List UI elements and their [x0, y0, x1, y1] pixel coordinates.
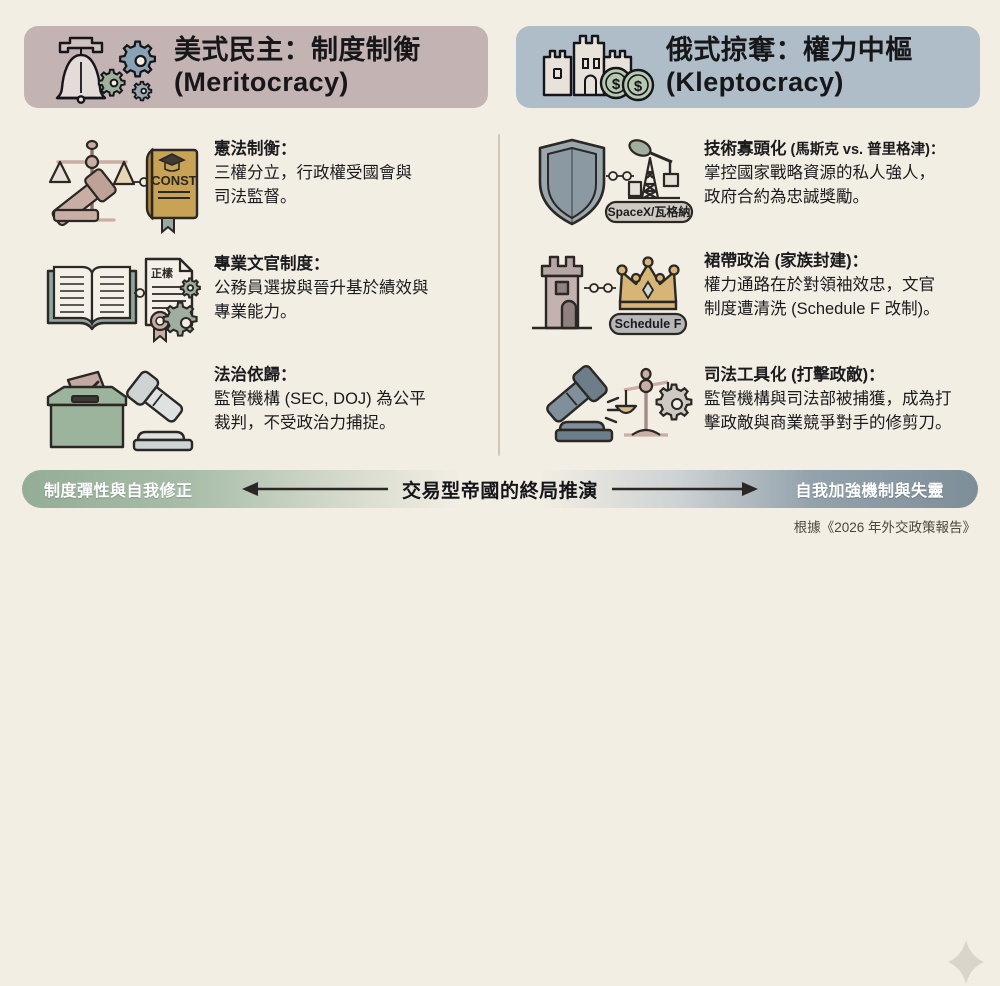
shield-oil-derrick-icon: SpaceX/瓦格納 [524, 134, 694, 239]
list-item-body-line1: 三權分立，行政權受國會與 [214, 162, 492, 186]
list-item-title-main: 裙帶政治 [704, 252, 770, 270]
bottom-band: 制度彈性與自我修正 自我加強機制與失靈 交易型帝國的終局推演 [0, 470, 1000, 510]
header-right-text: 俄式掠奪：權力中樞 (Kleptocracy) [666, 35, 913, 99]
castle-tower-crown-icon: Schedule F [524, 246, 694, 351]
book-label: CONST [151, 173, 197, 188]
list-item-title-main: 司法工具化 [704, 366, 787, 384]
list-item-title-paren: (馬斯克 vs. 普里格津)： [787, 142, 945, 158]
list-item-title: 憲法制衡： [214, 138, 492, 162]
gavel-strike-tilted-scales-gear-icon [524, 360, 694, 465]
open-book-certificate-gears-icon: 正榡 [34, 249, 204, 354]
list-item-text: 法治依歸： 監管機構 (SEC, DOJ) 為公平 裁判，不受政治力捕捉。 [214, 360, 492, 436]
svg-text:$: $ [634, 78, 643, 95]
list-item-title: 裙帶政治 (家族封建)： [704, 250, 992, 274]
list-item-body-line2: 制度遭清洗 (Schedule F 改制)。 [704, 298, 992, 322]
list-item: 正榡 專業文官 [34, 249, 492, 354]
list-item-body-line2: 專業能力。 [214, 301, 492, 325]
svg-text:$: $ [612, 76, 621, 93]
header-right-line1: 俄式掠奪：權力中樞 [666, 35, 913, 65]
list-item-text: 技術寡頭化 (馬斯克 vs. 普里格津)： 掌控國家戰略資源的私人強人， 政府合… [704, 134, 992, 210]
list-item-title: 專業文官制度： [214, 253, 492, 277]
header-left-line2: (Meritocracy) [174, 67, 421, 99]
list-item: SpaceX/瓦格納 技術寡頭化 (馬斯克 vs. 普里格津)： 掌控國家戰略資… [524, 134, 992, 239]
gear-large [120, 42, 155, 77]
corner-triangle-marker [946, 938, 986, 986]
scales-gavel-constitution-book-icon: CONST [34, 134, 204, 239]
connector-line [606, 172, 634, 180]
list-item: Schedule F 裙帶政治 (家族封建)： 權力通路在於對領袖效忠，文官 制… [524, 246, 992, 351]
arrow-left-icon [238, 479, 388, 499]
arrow-right-icon [612, 479, 762, 499]
list-item-body-line1: 監管機構與司法部被捕獲，成為打 [704, 388, 992, 412]
list-item-body-line2: 司法監督。 [214, 186, 492, 210]
footnote-source: 根據《2026 年外交政策報告》 [794, 516, 976, 536]
list-item-body-line1: 監管機構 (SEC, DOJ) 為公平 [214, 388, 492, 412]
list-item: CONST 憲法制衡： 三權分立，行政權受國會與 司法監督。 [34, 134, 492, 239]
list-item-title: 法治依歸： [214, 364, 492, 388]
list-item-body-line1: 掌控國家戰略資源的私人強人， [704, 162, 992, 186]
list-item-body-line1: 公務員選拔與晉升基於績效與 [214, 277, 492, 301]
liberty-bell-gears-icon [42, 29, 170, 105]
list-item-title-paren: (打擊政敵)： [787, 366, 885, 384]
pill-label: Schedule F [615, 317, 682, 331]
list-item: 司法工具化 (打擊政敵)： 監管機構與司法部被捕獲，成為打 擊政敵與商業競爭對手… [524, 360, 992, 465]
header-left-line1: 美式民主：制度制衡 [174, 35, 421, 65]
header-left-text: 美式民主：制度制衡 (Meritocracy) [174, 35, 421, 99]
gear-small [133, 82, 152, 101]
list-item: 法治依歸： 監管機構 (SEC, DOJ) 為公平 裁判，不受政治力捕捉。 [34, 360, 492, 465]
header-card-kleptocracy: $ $ 俄式掠奪：權力中樞 (Kleptocracy) [516, 26, 980, 108]
certificate-label: 正榡 [151, 266, 173, 280]
header-card-meritocracy: 美式民主：制度制衡 (Meritocracy) [24, 26, 488, 108]
list-item-title-paren: (家族封建)： [770, 252, 868, 270]
list-item-body-line2: 裁判，不受政治力捕捉。 [214, 412, 492, 436]
impact-lines [606, 398, 619, 422]
band-center-group: 交易型帝國的終局推演 [0, 470, 1000, 508]
header-right-line2: (Kleptocracy) [666, 67, 913, 99]
column-divider [498, 134, 500, 456]
list-item-body-line1: 權力通路在於對領袖效忠，文官 [704, 274, 992, 298]
list-item-title: 司法工具化 (打擊政敵)： [704, 364, 992, 388]
list-item-text: 專業文官制度： 公務員選拔與晉升基於績效與 專業能力。 [214, 249, 492, 325]
list-item-body-line2: 政府合約為忠誠獎勵。 [704, 186, 992, 210]
list-item-title: 技術寡頭化 (馬斯克 vs. 普里格津)： [704, 138, 992, 162]
gear-medium [99, 70, 125, 96]
list-item-text: 憲法制衡： 三權分立，行政權受國會與 司法監督。 [214, 134, 492, 210]
ballot-box-gavel-icon [34, 360, 204, 465]
band-center-title: 交易型帝國的終局推演 [402, 476, 598, 503]
connector-line [584, 284, 616, 292]
pill-label: SpaceX/瓦格納 [608, 204, 691, 219]
infographic-root: 美式民主：制度制衡 (Meritocracy) [0, 0, 1000, 545]
list-item-title-main: 技術寡頭化 [704, 140, 787, 158]
list-item-body-line2: 擊政敵與商業競爭對手的修剪刀。 [704, 412, 992, 436]
castle-coins-icon: $ $ [534, 29, 662, 105]
list-item-text: 裙帶政治 (家族封建)： 權力通路在於對領袖效忠，文官 制度遭清洗 (Sched… [704, 246, 992, 322]
list-item-text: 司法工具化 (打擊政敵)： 監管機構與司法部被捕獲，成為打 擊政敵與商業競爭對手… [704, 360, 992, 436]
